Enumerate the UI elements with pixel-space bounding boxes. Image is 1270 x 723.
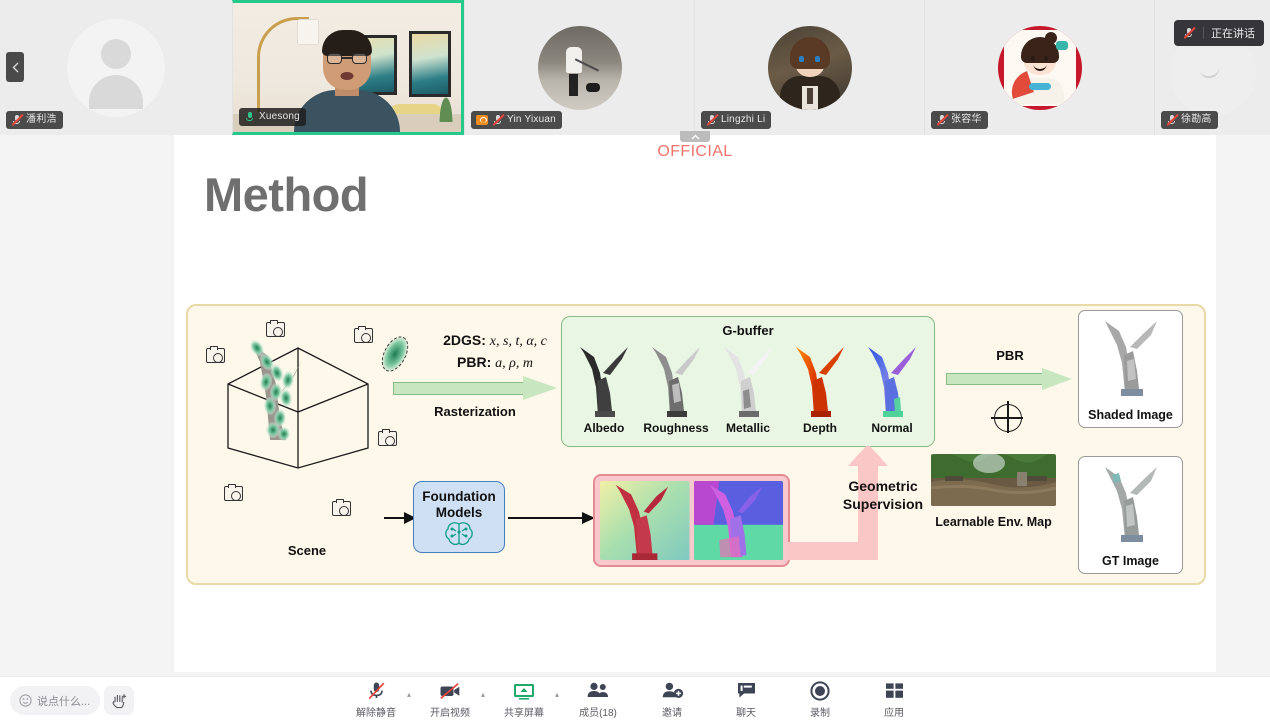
microphone-muted-icon: [492, 114, 503, 125]
participant-name-tag: 徐勘高: [1161, 111, 1218, 129]
share-screen-icon: [512, 680, 536, 701]
apps-button[interactable]: 应用: [868, 680, 920, 719]
participant-name: 潘利浩: [26, 115, 57, 125]
camera-icon: [206, 348, 225, 363]
shaded-image-thumbnail: [1099, 317, 1163, 399]
microphone-on-icon: [244, 111, 255, 122]
pbr-arrow: [946, 368, 1074, 390]
participant-tile-2[interactable]: Yin Yixuan: [464, 0, 694, 135]
participant-name-tag: Lingzhi Li: [701, 111, 771, 129]
chevron-up-icon: [691, 134, 700, 140]
scene-to-foundation-arrow: [384, 512, 416, 524]
brain-circuit-icon: [442, 520, 476, 548]
raise-hand-button[interactable]: [104, 686, 134, 715]
start-video-button[interactable]: 开启视频 ▴: [424, 680, 476, 719]
albedo-thumbnail: [576, 341, 632, 419]
normal-thumbnail: [864, 341, 920, 419]
zoom-meeting-window: 潘利浩 Xuesong: [0, 0, 1270, 723]
toolbar-buttons: 解除静音 ▴ 开启视频 ▴: [350, 680, 920, 719]
speaking-label: 正在讲话: [1211, 25, 1255, 41]
scene-group: Scene: [202, 316, 412, 566]
gt-image-thumbnail: [1099, 463, 1163, 545]
formula-pbr-params: a, ρ, m: [495, 356, 533, 371]
microphone-muted-icon: [706, 114, 717, 125]
microphone-muted-icon: [936, 114, 947, 125]
camera-icon: [332, 501, 351, 516]
microphone-muted-icon: [367, 680, 386, 701]
gt-image-card: GT Image: [1078, 456, 1183, 574]
chat-button[interactable]: 聊天: [720, 680, 772, 719]
normal-prior-image: [694, 481, 784, 560]
microphone-muted-icon: [1183, 27, 1196, 40]
slide-title: Method: [204, 167, 368, 222]
participant-tile-1[interactable]: Xuesong: [232, 0, 464, 135]
toolbar-label: 开启视频: [430, 704, 470, 719]
filmstrip-scroll-left-button[interactable]: [6, 52, 24, 82]
gbuffer-label: Roughness: [640, 421, 712, 435]
gbuffer-item-normal: Normal: [856, 341, 928, 435]
foundation-models-box: Foundation Models: [413, 481, 505, 553]
participant-tile-3[interactable]: Lingzhi Li: [694, 0, 924, 135]
video-off-icon: [476, 115, 488, 125]
avatar: [768, 26, 852, 110]
avatar: [67, 19, 165, 117]
participant-name-tag: Xuesong: [239, 108, 306, 126]
gt-image-caption: GT Image: [1079, 554, 1182, 568]
env-map-caption: Learnable Env. Map: [931, 515, 1056, 529]
shared-screen-stage: OFFICIAL Method: [0, 135, 1270, 676]
official-watermark: OFFICIAL: [174, 143, 1216, 161]
chat-icon: [736, 680, 757, 701]
smiley-icon: [19, 694, 32, 707]
participant-name-tag: Yin Yixuan: [471, 111, 562, 129]
chat-input-pill[interactable]: 说点什么...: [10, 686, 100, 715]
formula-pbr-prefix: PBR:: [457, 354, 491, 370]
scene-caption: Scene: [202, 543, 412, 558]
pbr-label: PBR: [946, 348, 1074, 363]
raise-hand-icon: [111, 692, 127, 709]
toolbar-label: 录制: [810, 704, 830, 719]
depth-prior-image: [600, 481, 690, 560]
gbuffer-label: Depth: [784, 421, 856, 435]
chevron-up-icon[interactable]: ▴: [481, 691, 485, 699]
formula-2dgs-params: x, s, t, α, c: [490, 334, 547, 349]
formula-2dgs-prefix: 2DGS:: [443, 332, 486, 348]
unmute-button[interactable]: 解除静音 ▴: [350, 680, 402, 719]
record-button[interactable]: 录制: [794, 680, 846, 719]
shaded-image-caption: Shaded Image: [1079, 408, 1182, 422]
parameter-formulas: 2DGS: x, s, t, α, c PBR: a, ρ, m: [410, 330, 580, 375]
avatar: [538, 26, 622, 110]
foundation-models-line2: Models: [414, 505, 504, 521]
invite-button[interactable]: 邀请: [646, 680, 698, 719]
participant-filmstrip: 潘利浩 Xuesong: [0, 0, 1270, 135]
participant-name: Xuesong: [259, 112, 300, 122]
gbuffer-label: Metallic: [712, 421, 784, 435]
gbuffer-item-roughness: Roughness: [640, 341, 712, 435]
rasterization-label: Rasterization: [393, 404, 557, 419]
toolbar-label: 成员(18): [579, 704, 617, 719]
foundation-models-label: Foundation Models: [414, 489, 504, 520]
presentation-slide: OFFICIAL Method: [174, 135, 1216, 672]
participant-tile-0[interactable]: 潘利浩: [0, 0, 232, 135]
foundation-models-line1: Foundation: [414, 489, 504, 505]
toolbar-label: 邀请: [662, 704, 682, 719]
gbuffer-item-depth: Depth: [784, 341, 856, 435]
participant-name-tag: 张容华: [931, 111, 988, 129]
gbuffer-panel: G-buffer Albedo: [561, 316, 935, 447]
camera-icon: [266, 322, 285, 337]
participant-name: Lingzhi Li: [721, 115, 765, 125]
invite-icon: [661, 680, 684, 701]
chevron-up-icon[interactable]: ▴: [555, 691, 559, 699]
chevron-left-icon: [12, 62, 19, 73]
apps-icon: [884, 680, 905, 701]
rasterization-arrow: [393, 376, 557, 400]
participants-button[interactable]: 成员(18): [572, 680, 624, 719]
env-map-card: Learnable Env. Map: [931, 454, 1056, 529]
meeting-toolbar: 说点什么...: [0, 676, 1270, 723]
gbuffer-item-metallic: Metallic: [712, 341, 784, 435]
env-map-image: [931, 454, 1056, 506]
participant-name-tag: 潘利浩: [6, 111, 63, 129]
toolbar-label: 共享屏幕: [504, 704, 544, 719]
share-screen-button[interactable]: 共享屏幕 ▴: [498, 680, 550, 719]
video-off-icon: [439, 680, 461, 701]
filmstrip-collapse-button[interactable]: [680, 131, 710, 142]
camera-icon: [378, 431, 397, 446]
gbuffer-title: G-buffer: [562, 323, 934, 338]
gbuffer-label: Normal: [856, 421, 928, 435]
roughness-thumbnail: [648, 341, 704, 419]
foundation-to-prior-arrow: [508, 512, 596, 524]
method-pipeline-figure: Scene 2DGS: x, s, t, α, c PBR: a, ρ, m: [186, 304, 1206, 585]
microphone-muted-icon: [11, 114, 22, 125]
participant-name: 张容华: [951, 115, 982, 125]
toolbar-label: 应用: [884, 704, 904, 719]
avatar: [998, 26, 1082, 110]
participant-name: Yin Yixuan: [507, 115, 556, 125]
depth-thumbnail: [792, 341, 848, 419]
toolbar-label: 聊天: [736, 704, 756, 719]
participants-icon: [586, 680, 610, 701]
gbuffer-label: Albedo: [568, 421, 640, 435]
gbuffer-item-albedo: Albedo: [568, 341, 640, 435]
participant-name: 徐勘高: [1181, 115, 1212, 125]
circled-plus-icon: [994, 404, 1022, 432]
chat-input-placeholder: 说点什么...: [37, 693, 90, 709]
gaussian-splat-model: [246, 336, 312, 446]
record-icon: [810, 680, 830, 701]
speaking-indicator-badge: 正在讲话: [1174, 20, 1264, 46]
chevron-up-icon[interactable]: ▴: [407, 691, 411, 699]
toolbar-label: 解除静音: [356, 704, 396, 719]
geometric-prior-panel: [593, 474, 790, 567]
metallic-thumbnail: [720, 341, 776, 419]
participant-tile-4[interactable]: 张容华: [924, 0, 1154, 135]
microphone-muted-icon: [1166, 114, 1177, 125]
shaded-image-card: Shaded Image: [1078, 310, 1183, 428]
camera-icon: [224, 486, 243, 501]
